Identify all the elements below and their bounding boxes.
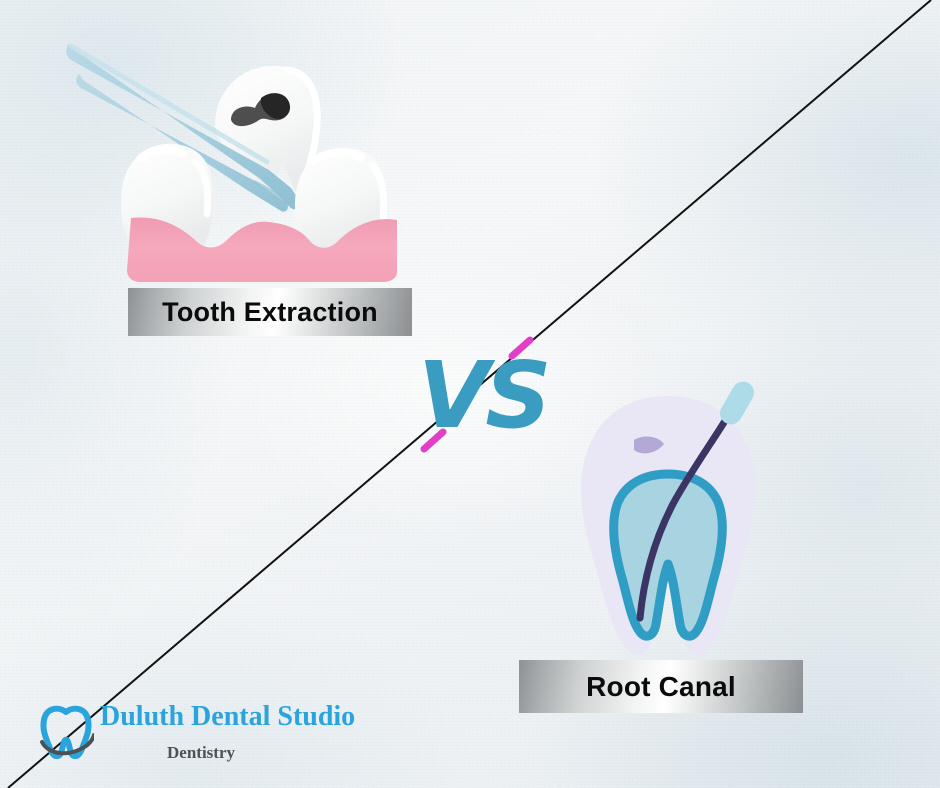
brand-tagline: Dentistry xyxy=(167,744,235,763)
brand-text-block: Duluth Dental Studio xyxy=(100,700,355,731)
brand-name: Duluth Dental Studio xyxy=(100,702,355,731)
tooth-logo-icon xyxy=(38,702,94,762)
gum-tissue xyxy=(127,218,397,282)
tooth-pulp-fill xyxy=(614,474,723,636)
tooth-extraction-label: Tooth Extraction xyxy=(128,288,412,336)
versus-text: VS xyxy=(418,344,538,448)
root-canal-label: Root Canal xyxy=(519,660,803,713)
tooth-extraction-illustration xyxy=(55,30,425,290)
poster-canvas: VS Tooth Extraction Root Canal Duluth De… xyxy=(0,0,940,788)
versus-badge: VS xyxy=(418,344,538,448)
root-canal-illustration xyxy=(548,378,788,668)
